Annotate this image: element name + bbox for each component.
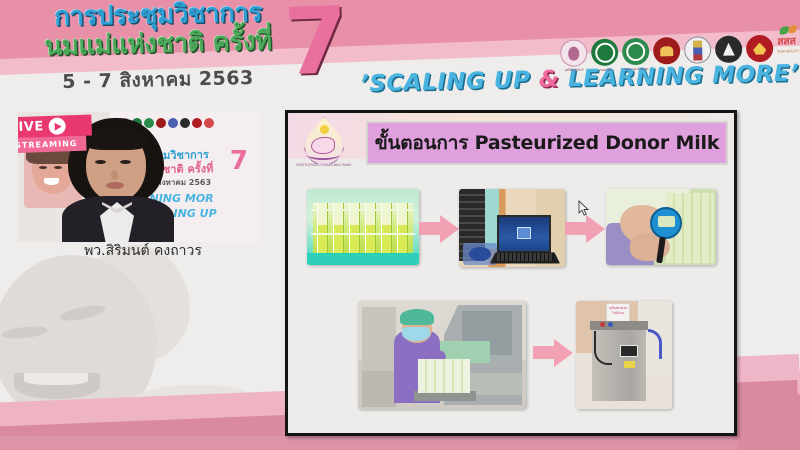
arrow-head (586, 215, 605, 243)
live-streaming-badge: LIVE STREAMING (18, 114, 93, 157)
nursing-council-logo (715, 35, 743, 63)
background-right-dark-pink-strip (735, 380, 800, 450)
photo5-power-cord (594, 331, 612, 365)
step-arrow-1-to-2 (419, 213, 459, 243)
tagline-ampersand: & (539, 66, 560, 92)
photo4-nurse-face-mask (402, 327, 430, 341)
photo1-shelf-2 (311, 233, 415, 235)
poster-logo-6 (180, 118, 190, 128)
photo1-floor (307, 253, 419, 265)
photo2-laptop-keyboard (497, 253, 553, 261)
speaker-eye-left (95, 160, 106, 164)
background-bottom-pink-strip (0, 436, 800, 450)
slide-title-banner: ขั้นตอนการ Pasteurized Donor Milk (366, 121, 728, 165)
photo5-wall-sign-text: เครื่องพาสเจอไรส์น้ำนม (607, 306, 629, 316)
slide-header: PASTEURIZED HUMAN MILK BANK ขั้นตอนการ P… (288, 113, 734, 173)
child-eye-left (39, 166, 47, 169)
play-triangle-icon (48, 117, 66, 135)
step-arrow-4-to-5 (533, 337, 573, 367)
photo-hand-holding-digital-thermometer (606, 189, 716, 265)
photo2-mouse (469, 247, 491, 261)
baby-watermark-teeth (24, 373, 88, 385)
milk-drop-hands (306, 149, 340, 160)
photo3-thermometer-display (658, 216, 675, 227)
thaihealth-logo-subtext: THAI HEALTH (777, 49, 800, 54)
conference-edition-number: 7 (282, 0, 349, 89)
photo5-red-knob (600, 322, 605, 327)
child-mouth (44, 178, 59, 185)
logo-caption-1: มูลนิธิศูนย์นมแม่ (562, 67, 587, 73)
mouse-pointer (578, 200, 590, 217)
poster-edition-number: 7 (230, 148, 248, 174)
live-badge-label: LIVE (18, 119, 44, 135)
photo-nurse-loading-bottles-in-hood (358, 301, 526, 409)
speaker-name-caption: พว.สิริมนต์ คงถาวร (28, 240, 258, 262)
royal-college-logo (653, 37, 681, 65)
photo5-warning-sticker (624, 361, 635, 368)
milk-drop-yellow-dot (320, 125, 329, 134)
photo2-screen-window-icon (517, 227, 531, 239)
unicef-thailand-logo (746, 35, 774, 63)
photo5-blue-knob (608, 322, 613, 327)
conference-title-line2: นมแม่แห่งชาติ ครั้งที่ (18, 28, 299, 62)
arrow-head (554, 339, 573, 367)
arrow-head (440, 215, 459, 243)
presentation-stage: การประชุมวิชาการ นมแม่แห่งชาติ ครั้งที่ … (0, 0, 800, 450)
tagline-prefix: ’SCALING UP (360, 67, 539, 97)
photo5-machine-lid (590, 321, 648, 330)
speaker-lips (106, 182, 124, 189)
ministry-of-public-health-logo: กระทรวงสาธารณสุข (622, 38, 650, 66)
department-of-health-logo: กรมอนามัย (591, 38, 619, 66)
conference-date-range: 5 - 7 สิงหาคม 2563 (18, 62, 299, 98)
process-steps-row-top (288, 181, 737, 267)
photo5-control-display (620, 345, 638, 357)
photo4-milk-bottles (418, 359, 470, 393)
live-badge-bottom-row: STREAMING (18, 136, 87, 154)
sponsor-logo-strip: มูลนิธิศูนย์นมแม่ กรมอนามัย กระทรวงสาธาร… (560, 19, 799, 67)
photo4-nurse-surgical-cap (400, 309, 434, 325)
speaker-nose (111, 170, 118, 180)
photo-pasteurizer-machine: เครื่องพาสเจอไรส์น้ำนม (576, 301, 672, 409)
conference-header: การประชุมวิชาการ นมแม่แห่งชาติ ครั้งที่ … (18, 2, 298, 95)
pasteurized-human-milk-bank-drop-logo: PASTEURIZED HUMAN MILK BANK (296, 115, 352, 173)
poster-logo-7 (192, 118, 202, 128)
logo-caption-2: กรมอนามัย (592, 67, 619, 73)
photo4-cabinet-upper (362, 307, 396, 371)
thai-breastfeeding-foundation-logo: มูลนิธิศูนย์นมแม่ (560, 39, 588, 67)
photo1-shelf-1 (311, 209, 415, 211)
presentation-slide: PASTEURIZED HUMAN MILK BANK ขั้นตอนการ P… (285, 110, 737, 436)
speaker-eye-right (120, 160, 131, 164)
photo-laptop-data-entry (459, 189, 565, 267)
poster-logo-8 (204, 118, 214, 128)
slide-title-text: ขั้นตอนการ Pasteurized Donor Milk (375, 128, 720, 158)
thaihealth-logo: สสส THAI HEALTH (777, 31, 800, 62)
step-arrow-2-to-3 (565, 213, 605, 243)
photo-milk-bottle-racks (307, 189, 419, 265)
thai-pediatric-society-logo (684, 36, 712, 64)
logo-caption-3: กระทรวงสาธารณสุข (623, 67, 650, 73)
streaming-label: STREAMING (18, 139, 78, 150)
process-steps-row-bottom: เครื่องพาสเจอไรส์น้ำนม (288, 285, 737, 405)
live-video-panel[interactable]: การประชุมวิชาการ นมแม่แห่งชาติ ครั้งที่ … (18, 112, 260, 242)
speaker-bangs (84, 128, 148, 150)
photo4-cabinet-lower (362, 371, 396, 407)
child-eye-right (54, 166, 62, 169)
milk-bank-logo-caption: PASTEURIZED HUMAN MILK BANK (295, 163, 353, 167)
